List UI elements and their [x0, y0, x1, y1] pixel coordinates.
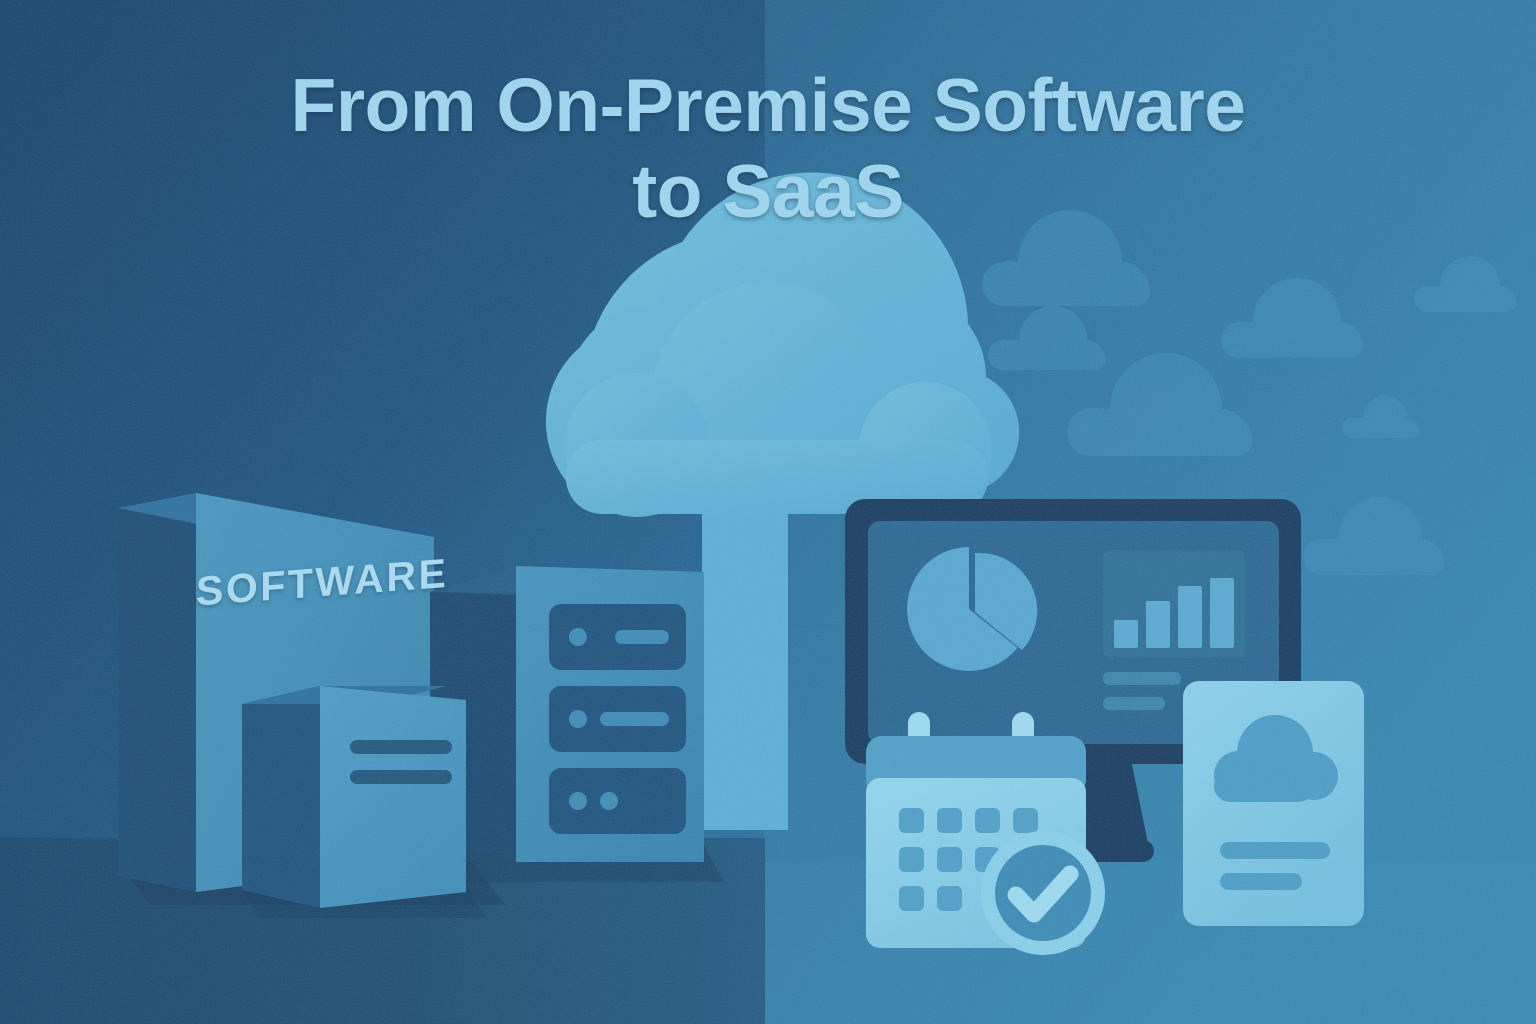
disc-case-line-1 — [350, 740, 452, 754]
screen-text-line-2 — [1103, 697, 1165, 710]
server-rack-icon — [430, 566, 724, 882]
document-icon — [1183, 681, 1364, 926]
disc-case-icon — [242, 686, 486, 918]
screen-text-line-1 — [1103, 672, 1181, 685]
check-badge-icon — [981, 831, 1105, 955]
bar-1 — [1114, 620, 1138, 648]
disc-case-line-2 — [350, 770, 452, 784]
doc-line-1 — [1220, 842, 1330, 859]
server-bay-3 — [549, 768, 686, 834]
calendar-icon — [866, 712, 1105, 955]
bar-2 — [1146, 601, 1170, 648]
bar-chart-icon — [1103, 550, 1245, 658]
server-bay-1 — [549, 604, 686, 670]
server-bay-2 — [549, 686, 686, 752]
doc-line-2 — [1220, 873, 1302, 890]
background-layer — [0, 0, 1536, 1024]
bar-3 — [1178, 586, 1202, 648]
bar-4 — [1210, 578, 1234, 648]
illustration-canvas: From On-Premise Software to SaaS SOFTWAR… — [0, 0, 1536, 1024]
